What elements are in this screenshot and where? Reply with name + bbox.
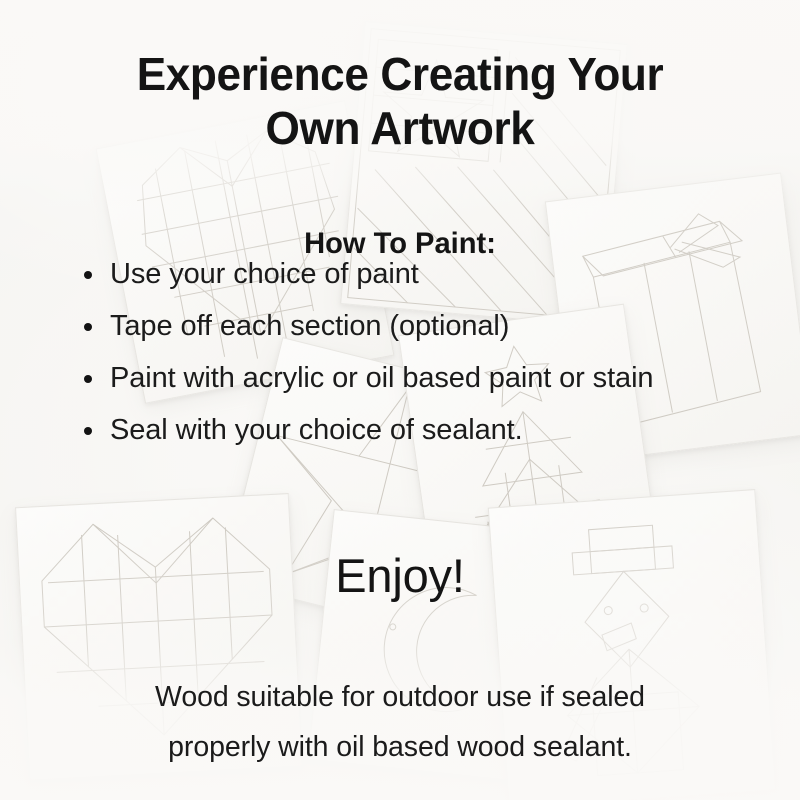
footer-line-2: properly with oil based wood sealant.: [30, 722, 770, 772]
footer-line-1: Wood suitable for outdoor use if sealed: [30, 672, 770, 722]
title-line-1: Experience Creating Your: [137, 48, 664, 100]
list-item: Tape off each section (optional): [78, 302, 768, 350]
page-title: Experience Creating Your Own Artwork: [54, 47, 745, 156]
list-item: Seal with your choice of sealant.: [78, 406, 768, 454]
footer-note: Wood suitable for outdoor use if sealed …: [30, 672, 770, 772]
title-line-2: Own Artwork: [266, 102, 535, 154]
list-item: Paint with acrylic or oil based paint or…: [78, 354, 768, 402]
list-item: Use your choice of paint: [78, 250, 768, 298]
text-layer: Experience Creating Your Own Artwork How…: [0, 0, 800, 800]
poster: Experience Creating Your Own Artwork How…: [0, 0, 800, 800]
how-to-paint-steps: Use your choice of paint Tape off each s…: [78, 250, 768, 458]
enjoy-callout: Enjoy!: [240, 550, 560, 602]
